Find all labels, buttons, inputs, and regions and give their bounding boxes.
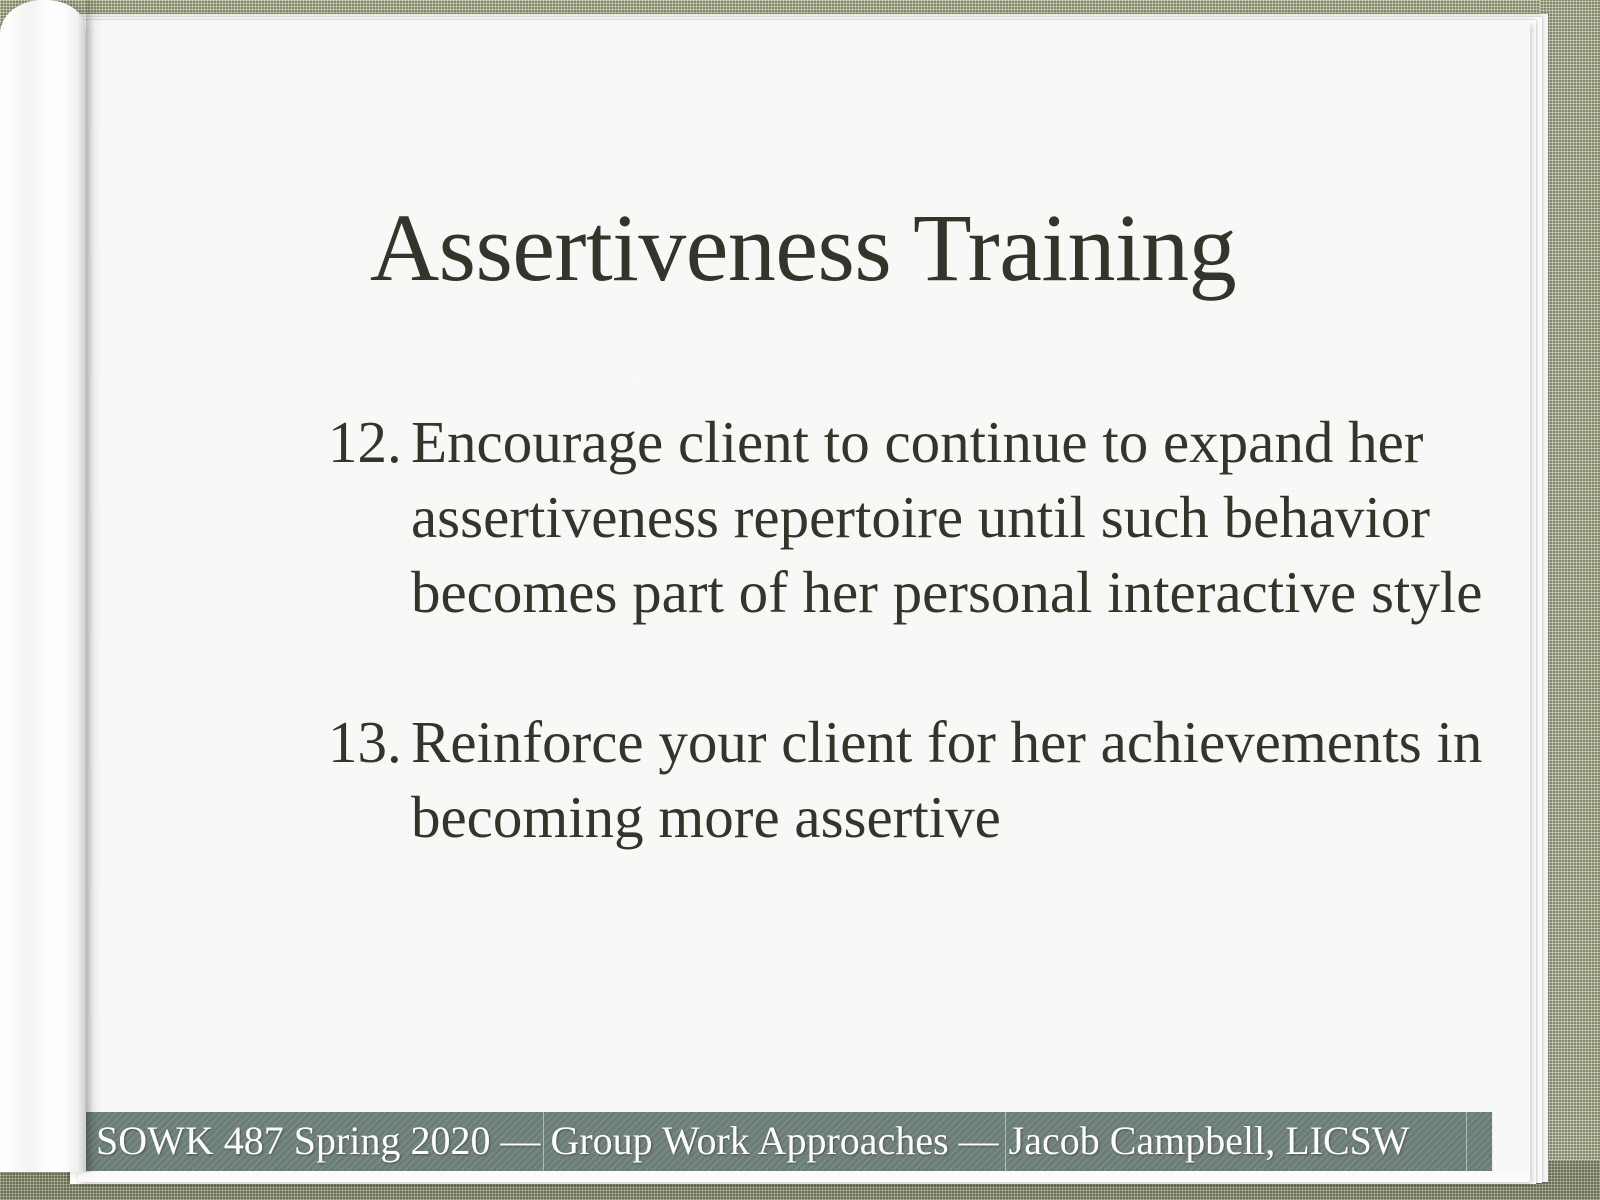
- page-title: Assertiveness Training: [228, 198, 1378, 299]
- footer-text: SOWK 487 Spring 2020 — Group Work Approa…: [96, 1112, 1410, 1171]
- list-item: 13. Reinforce your client for her achiev…: [328, 705, 1488, 855]
- page-curl: [0, 0, 86, 1172]
- numbered-list: 12. Encourage client to continue to expa…: [328, 405, 1488, 855]
- fabric-background-right: [1540, 0, 1600, 1160]
- list-item-text: Encourage client to continue to expand h…: [411, 405, 1488, 630]
- footer-divider: [1005, 1112, 1006, 1171]
- footer-divider: [1466, 1112, 1467, 1171]
- list-item-number: 12.: [328, 405, 411, 480]
- page-bottom-margin: [78, 1171, 1530, 1182]
- list-item-number: 13.: [328, 705, 411, 780]
- list-item-text: Reinforce your client for her achievemen…: [411, 705, 1488, 855]
- footer-divider: [543, 1112, 544, 1171]
- slide-stage: Assertiveness Training 12. Encourage cli…: [0, 0, 1600, 1200]
- footer-bar: SOWK 487 Spring 2020 — Group Work Approa…: [80, 1112, 1492, 1171]
- list-item: 12. Encourage client to continue to expa…: [328, 405, 1488, 630]
- slide-page: Assertiveness Training 12. Encourage cli…: [78, 22, 1530, 1182]
- page-curl-shadow: [86, 0, 102, 1172]
